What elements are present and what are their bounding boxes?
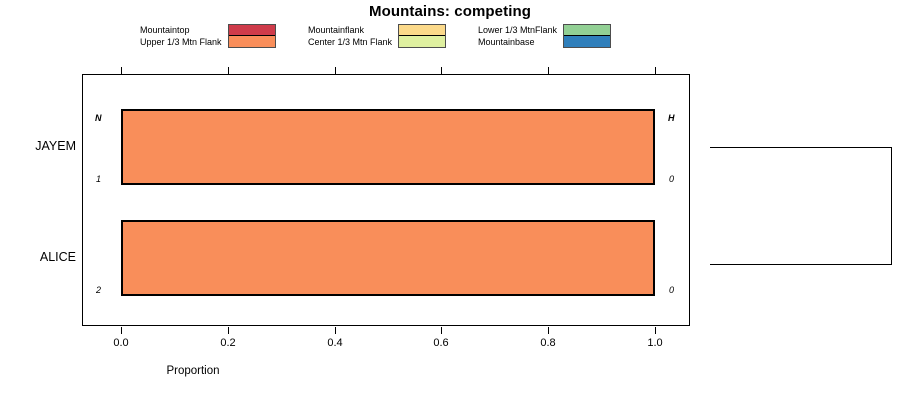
tick-bottom-2 [335, 327, 336, 334]
x-tick-label-0: 0.0 [101, 337, 141, 349]
legend-column-3-swatches [563, 24, 611, 48]
legend-swatch-mountainbase [564, 36, 610, 47]
bar-jayem-index-label: 1 [96, 174, 101, 184]
bar-alice[interactable] [121, 220, 655, 296]
tick-top-2 [335, 67, 336, 74]
bar-jayem-bottom-right-note: 0 [669, 174, 674, 184]
x-axis-title-wrap: Proportion [0, 365, 900, 377]
legend-column-2-labels: Mountainflank Center 1/3 Mtn Flank [308, 24, 392, 48]
x-tick-label-5: 1.0 [635, 337, 675, 349]
legend-swatch-upper-third-mtn-flank [229, 36, 275, 47]
tick-top-3 [441, 67, 442, 74]
chart-canvas: Mountains: competing Mountaintop Upper 1… [0, 0, 900, 400]
tick-bottom-5 [655, 327, 656, 334]
legend-column-1: Mountaintop Upper 1/3 Mtn Flank [140, 24, 276, 52]
x-tick-label-2: 0.4 [315, 337, 355, 349]
legend: Mountaintop Upper 1/3 Mtn Flank Mountain… [140, 24, 660, 52]
tick-bottom-3 [441, 327, 442, 334]
tick-top-0 [121, 67, 122, 74]
legend-label-mountainflank: Mountainflank [308, 24, 392, 36]
legend-column-2-swatches [398, 24, 446, 48]
legend-column-2: Mountainflank Center 1/3 Mtn Flank [308, 24, 446, 52]
bar-alice-index-label: 2 [96, 285, 101, 295]
x-tick-label-4: 0.8 [528, 337, 568, 349]
legend-label-lower-third-mtn-flank: Lower 1/3 MtnFlank [478, 24, 557, 36]
legend-column-3-labels: Lower 1/3 MtnFlank Mountainbase [478, 24, 557, 48]
legend-label-upper-third-mtn-flank: Upper 1/3 Mtn Flank [140, 36, 222, 48]
legend-swatch-mountaintop [229, 25, 275, 36]
y-label-alice: ALICE [0, 250, 76, 264]
legend-column-1-swatches [228, 24, 276, 48]
tick-top-1 [228, 67, 229, 74]
legend-swatch-center-third-mtn-flank [399, 36, 445, 47]
x-tick-label-1: 0.2 [208, 337, 248, 349]
bar-alice-bottom-right-note: 0 [669, 285, 674, 295]
y-label-jayem: JAYEM [0, 139, 76, 153]
x-tick-label-3: 0.6 [421, 337, 461, 349]
legend-label-mountaintop: Mountaintop [140, 24, 222, 36]
tick-top-4 [548, 67, 549, 74]
tick-bottom-0 [121, 327, 122, 334]
side-panel-box [710, 147, 892, 265]
tick-bottom-4 [548, 327, 549, 334]
tick-top-5 [655, 67, 656, 74]
legend-swatch-lower-third-mtn-flank [564, 25, 610, 36]
bar-jayem[interactable] [121, 109, 655, 185]
page-title: Mountains: competing [0, 3, 900, 20]
legend-label-mountainbase: Mountainbase [478, 36, 557, 48]
legend-column-3: Lower 1/3 MtnFlank Mountainbase [478, 24, 611, 52]
x-axis-title: Proportion [166, 365, 219, 377]
bar-jayem-top-left-note: N [95, 113, 102, 123]
bar-jayem-top-right-note: H [668, 113, 675, 123]
legend-column-1-labels: Mountaintop Upper 1/3 Mtn Flank [140, 24, 222, 48]
legend-label-center-third-mtn-flank: Center 1/3 Mtn Flank [308, 36, 392, 48]
tick-bottom-1 [228, 327, 229, 334]
legend-swatch-mountainflank [399, 25, 445, 36]
